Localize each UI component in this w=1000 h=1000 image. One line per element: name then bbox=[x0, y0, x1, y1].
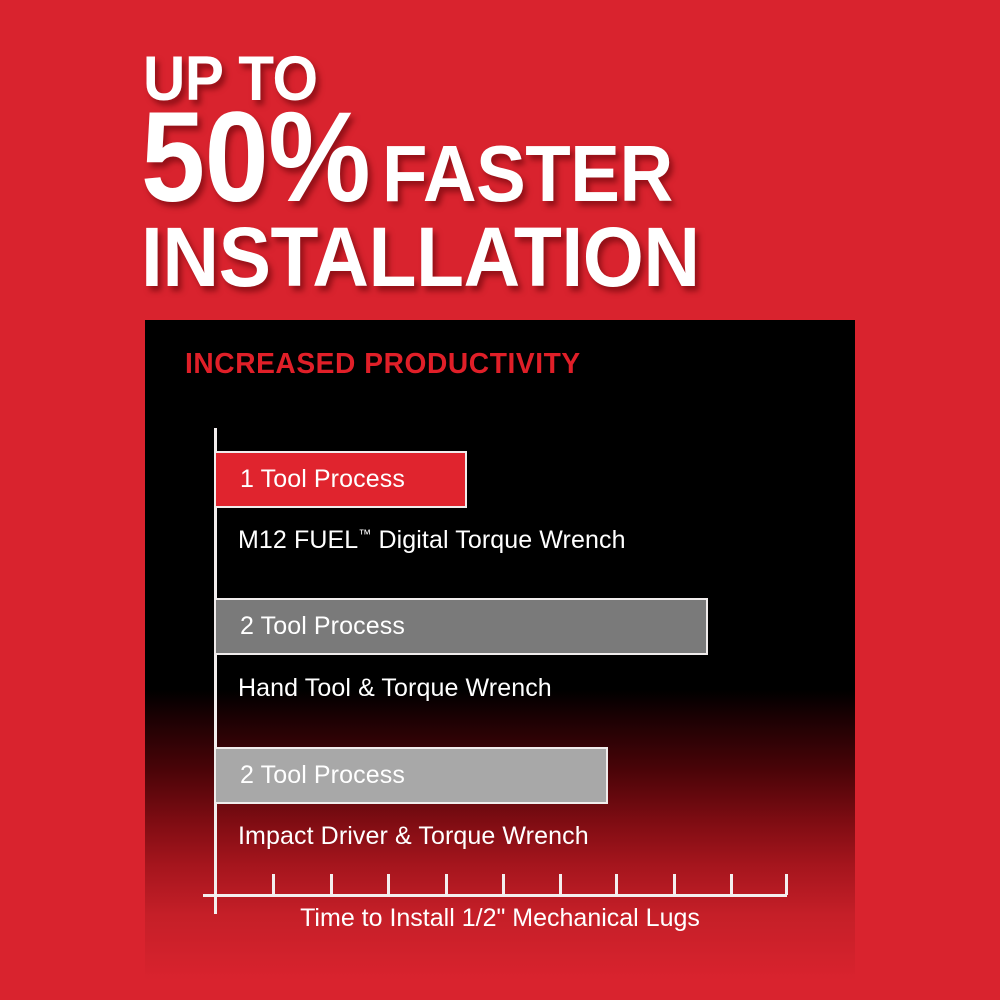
x-axis-tick-10 bbox=[785, 874, 788, 895]
x-axis-tick-3 bbox=[387, 874, 390, 895]
x-axis-tick-6 bbox=[559, 874, 562, 895]
chart-panel: INCREASED PRODUCTIVITY 1 Tool Process M1… bbox=[145, 320, 855, 980]
bar-1-tool-process: 1 Tool Process bbox=[214, 451, 467, 508]
x-axis-tick-9 bbox=[730, 874, 733, 895]
plot-area: 1 Tool Process M12 FUEL™ Digital Torque … bbox=[145, 320, 855, 980]
x-axis-tick-4 bbox=[445, 874, 448, 895]
x-axis-tick-5 bbox=[502, 874, 505, 895]
series-caption-2: Hand Tool & Torque Wrench bbox=[238, 674, 552, 703]
series-caption-3: Impact Driver & Torque Wrench bbox=[238, 822, 589, 851]
x-axis-line bbox=[203, 894, 787, 897]
x-axis-tick-7 bbox=[615, 874, 618, 895]
series-caption-1: M12 FUEL™ Digital Torque Wrench bbox=[238, 526, 626, 555]
bar-2-tool-process-impact: 2 Tool Process bbox=[214, 747, 608, 804]
x-axis-tick-8 bbox=[673, 874, 676, 895]
trademark-icon: ™ bbox=[358, 527, 371, 542]
bar-2-tool-process-hand: 2 Tool Process bbox=[214, 598, 708, 655]
headline-line-installation: INSTALLATION bbox=[141, 212, 700, 302]
infographic-poster: UP TO 50% FASTER INSTALLATION INCREASED … bbox=[0, 0, 1000, 1000]
series-caption-1-rest: Digital Torque Wrench bbox=[371, 526, 625, 554]
x-axis-tick-1 bbox=[272, 874, 275, 895]
headline-percent-value: 50% bbox=[141, 98, 370, 218]
bar-label-3: 2 Tool Process bbox=[216, 761, 405, 790]
x-axis-caption: Time to Install 1/2" Mechanical Lugs bbox=[145, 904, 855, 933]
x-axis-tick-2 bbox=[330, 874, 333, 895]
bar-label-2: 2 Tool Process bbox=[216, 612, 405, 641]
series-caption-1-main: M12 FUEL bbox=[238, 526, 358, 554]
bar-label-1: 1 Tool Process bbox=[216, 465, 405, 494]
